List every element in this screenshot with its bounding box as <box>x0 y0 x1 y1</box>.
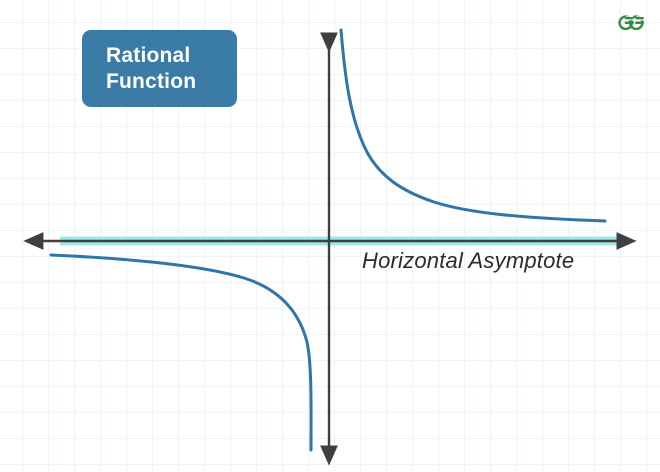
rational-function-label-line1: Rational <box>106 43 190 69</box>
rational-function-label-line2: Function <box>106 69 196 95</box>
diagram-canvas: Rational Function Horizontal Asymptote <box>0 0 660 472</box>
rational-curve-right-branch <box>341 30 605 221</box>
rational-function-label: Rational Function <box>82 30 237 107</box>
rational-curve-left-branch <box>51 255 311 450</box>
horizontal-asymptote-caption: Horizontal Asymptote <box>362 248 574 274</box>
geeksforgeeks-logo <box>616 11 646 33</box>
